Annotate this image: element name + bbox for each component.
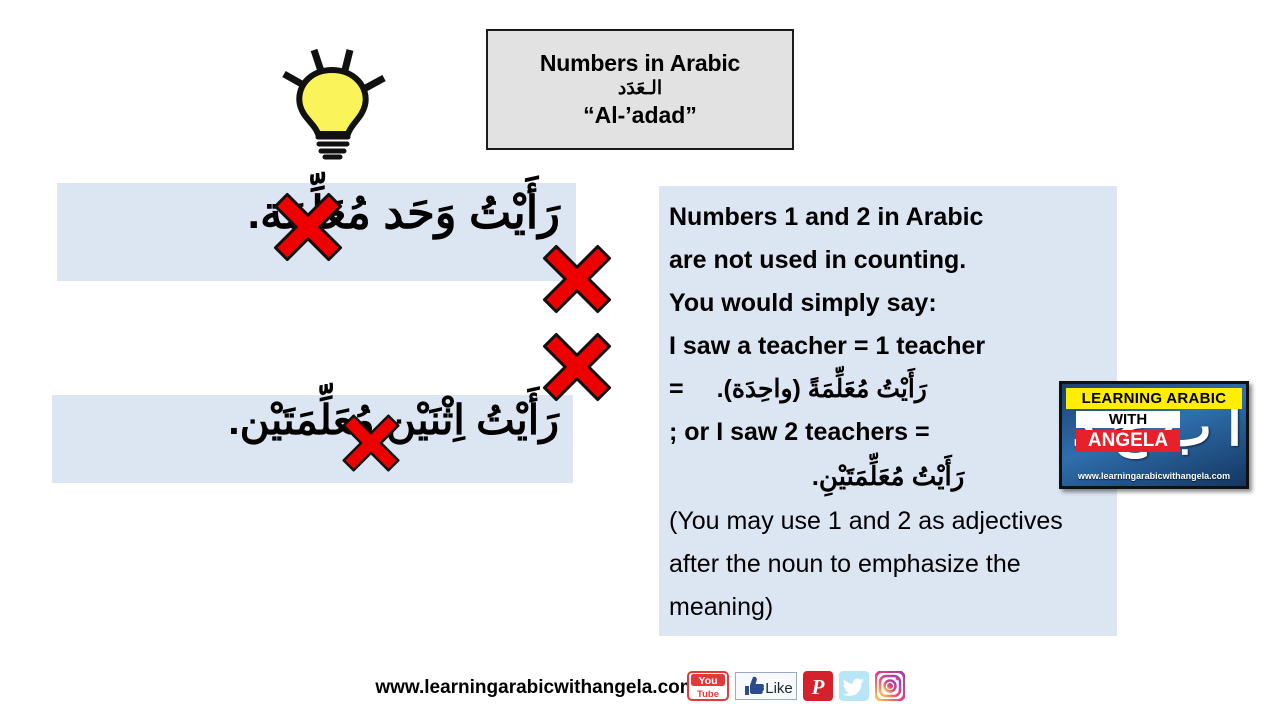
facebook-like-icon[interactable]: Like (735, 672, 797, 705)
lightbulb-svg (262, 42, 407, 162)
red-x-icon (271, 190, 345, 264)
pinterest-icon[interactable]: P (803, 671, 833, 706)
explanation-line-2: are not used in counting. (669, 239, 1107, 282)
twitter-icon[interactable] (839, 671, 869, 706)
title-box: Numbers in Arabic الـعَدَد “Al-’adad” (486, 29, 794, 150)
logo-line-1: LEARNING ARABIC (1066, 388, 1242, 409)
svg-text:Tube: Tube (697, 689, 719, 700)
svg-text:P: P (810, 675, 824, 699)
red-x-icon (540, 330, 614, 404)
logo-url: www.learningarabicwithangela.com (1068, 471, 1240, 481)
explanation-panel: Numbers 1 and 2 in Arabic are not used i… (659, 186, 1117, 636)
explanation-line-4: I saw a teacher = 1 teacher (669, 325, 1107, 368)
red-x-svg (540, 330, 614, 404)
twitter-svg (839, 671, 869, 701)
explanation-line-1: Numbers 1 and 2 in Arabic (669, 196, 1107, 239)
title-arabic: الـعَدَد (618, 79, 662, 100)
svg-text:Like: Like (765, 680, 793, 697)
title-english: Numbers in Arabic (540, 50, 740, 77)
red-x-icon (340, 412, 402, 474)
svg-text:You: You (698, 675, 717, 687)
youtube-svg: You Tube (687, 671, 729, 701)
logo-line-2: WITH (1076, 411, 1180, 428)
explanation-line-5: = رَأَيْتُ مُعَلِّمَةً (واحِدَة). (669, 368, 1107, 411)
logo-line-3: ANGELA (1076, 430, 1180, 452)
equals-sign: = (669, 375, 684, 403)
explanation-line-7-arabic: رَأَيْتُ مُعَلِّمَتَيْنِ. (669, 454, 1107, 498)
title-transliteration: “Al-’adad” (583, 102, 697, 129)
explanation-line-6: ; or I saw 2 teachers = (669, 411, 1107, 454)
pinterest-svg: P (803, 671, 833, 701)
channel-logo[interactable]: أ ب ج د LEARNING ARABIC WITH ANGELA www.… (1059, 381, 1249, 489)
facebook-like-svg: Like (735, 672, 797, 700)
example-2-box: رَأَيْتُ اِثْنَيْن مُعَلِّمَتَيْن. (52, 395, 573, 483)
red-x-svg (271, 190, 345, 264)
footer-bar: www.learningarabicwithangela.com You Tub… (0, 668, 1280, 708)
instagram-svg (875, 671, 905, 701)
explanation-line-5-arabic: رَأَيْتُ مُعَلِّمَةً (واحِدَة). (717, 368, 927, 411)
instagram-icon[interactable] (875, 671, 905, 706)
explanation-line-3: You would simply say: (669, 282, 1107, 325)
explanation-note: (You may use 1 and 2 as adjectives after… (669, 500, 1107, 629)
footer-url[interactable]: www.learningarabicwithangela.com (375, 677, 696, 699)
lightbulb-icon (262, 42, 407, 162)
red-x-svg (340, 412, 402, 474)
red-x-svg (540, 242, 614, 316)
youtube-icon[interactable]: You Tube (687, 671, 729, 706)
red-x-icon (540, 242, 614, 316)
